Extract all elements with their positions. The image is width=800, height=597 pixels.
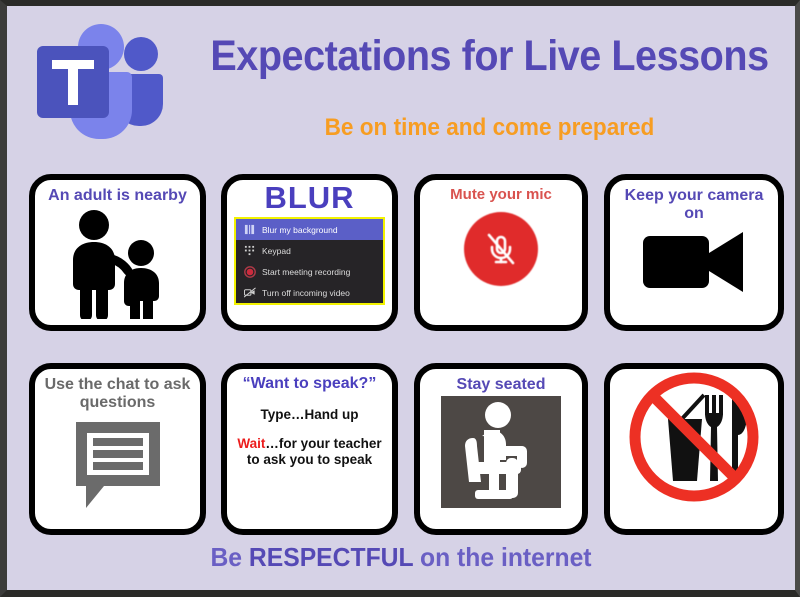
video-off-icon — [242, 286, 257, 300]
card-adult-nearby: An adult is nearby — [29, 174, 206, 331]
speak-instruction-type: Type…Hand up — [227, 407, 392, 423]
menu-item-turn-off-incoming-video[interactable]: Turn off incoming video — [236, 282, 383, 303]
card-blur-background: BLUR Blur my background Keypad Start mee… — [221, 174, 398, 331]
microsoft-teams-logo — [29, 20, 174, 150]
adult-and-child-icon — [35, 205, 200, 317]
poster-canvas: Expectations for Live Lessons Be on time… — [7, 6, 795, 590]
card-want-to-speak: “Want to speak?” Type…Hand up Wait…for y… — [221, 363, 398, 535]
teams-more-actions-menu: Blur my background Keypad Start meeting … — [234, 217, 385, 305]
footer-suffix: on the internet — [413, 542, 591, 572]
card-stay-seated: Stay seated — [414, 363, 588, 535]
menu-item-label: Keypad — [262, 246, 291, 256]
keypad-icon — [242, 244, 257, 258]
mic-muted-icon — [464, 212, 538, 286]
menu-item-keypad[interactable]: Keypad — [236, 240, 383, 261]
footer-prefix: Be — [210, 542, 248, 572]
card-use-chat: Use the chat to ask questions — [29, 363, 206, 535]
poster: Expectations for Live Lessons Be on time… — [0, 0, 800, 597]
no-food-or-drink-icon — [610, 369, 778, 505]
video-camera-icon — [610, 227, 778, 297]
card-mute-mic: Mute your mic — [414, 174, 588, 331]
card-camera-on: Keep your camera on — [604, 174, 784, 331]
chat-bubble-icon — [35, 416, 200, 521]
menu-item-label: Start meeting recording — [262, 267, 350, 277]
footer-message: Be RESPECTFUL on the internet — [27, 542, 776, 573]
seated-person-icon — [441, 396, 561, 508]
page-title: Expectations for Live Lessons — [207, 32, 773, 81]
poster-header: Expectations for Live Lessons Be on time… — [7, 6, 795, 166]
card-no-food-drink — [604, 363, 784, 535]
card-title-camera-on: Keep your camera on — [610, 187, 778, 223]
footer-emphasis: RESPECTFUL — [249, 542, 413, 572]
wait-rest: …for your teacher to ask you to speak — [247, 436, 382, 467]
card-title-use-chat: Use the chat to ask questions — [35, 376, 200, 412]
card-title-blur: BLUR — [227, 182, 392, 213]
card-title-adult-nearby: An adult is nearby — [35, 187, 200, 205]
card-title-mute-mic: Mute your mic — [420, 187, 582, 204]
record-icon — [242, 265, 257, 279]
menu-item-start-meeting-recording[interactable]: Start meeting recording — [236, 261, 383, 282]
menu-item-blur-my-background[interactable]: Blur my background — [236, 219, 383, 240]
menu-item-label: Turn off incoming video — [262, 288, 350, 298]
card-title-want-to-speak: “Want to speak?” — [227, 375, 392, 393]
speak-instruction-wait: Wait…for your teacher to ask you to spea… — [227, 436, 392, 468]
card-title-stay-seated: Stay seated — [420, 376, 582, 394]
wait-emphasis: Wait — [237, 436, 265, 451]
page-subtitle: Be on time and come prepared — [200, 114, 778, 142]
blur-background-icon — [242, 223, 257, 237]
menu-item-label: Blur my background — [262, 225, 338, 235]
